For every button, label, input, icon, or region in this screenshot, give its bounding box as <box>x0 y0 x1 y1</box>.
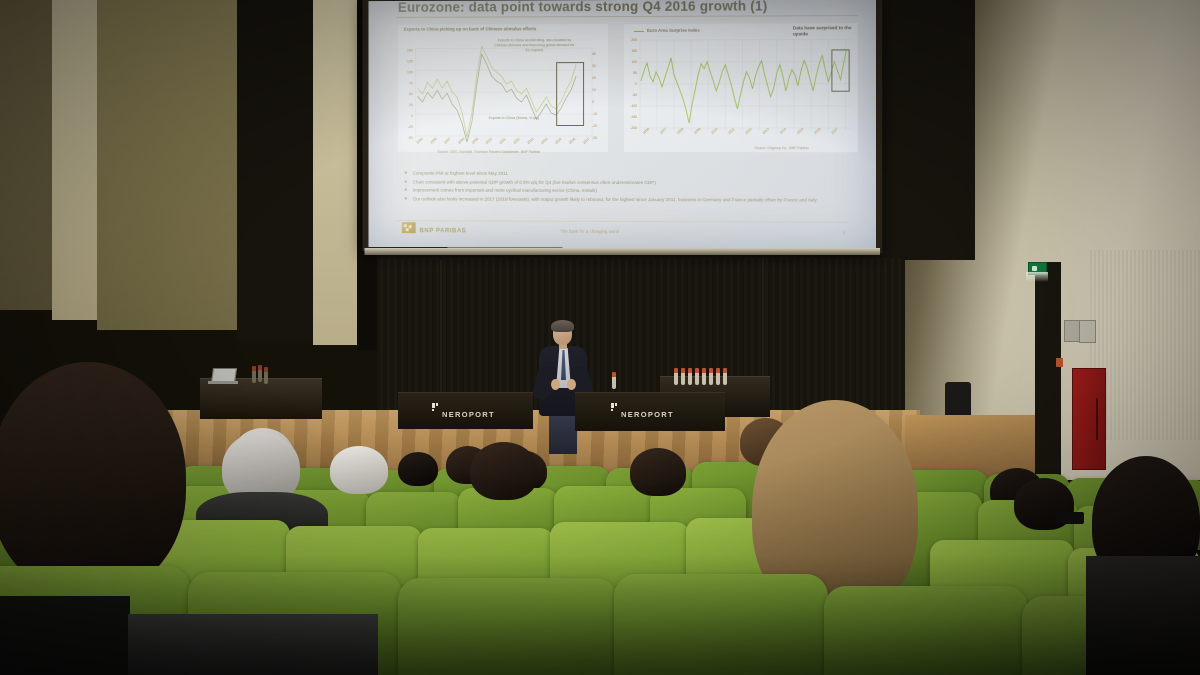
audience-head <box>630 448 686 496</box>
eyeglasses-icon <box>1056 512 1084 524</box>
bnp-paribas-logo-icon <box>402 222 416 233</box>
laptop-base <box>208 381 238 384</box>
slide-bullet-list: Composite PMI at highest level since May… <box>402 170 852 205</box>
foreground-person-lap <box>128 614 378 675</box>
foreground-person-body-right <box>1086 556 1200 675</box>
exit-sign-glow <box>1026 272 1048 282</box>
bottle <box>681 368 685 385</box>
bottle <box>688 368 692 385</box>
auditorium-photo: Eurozone: data point towards strong Q4 2… <box>0 0 1200 675</box>
bottle <box>723 368 727 385</box>
wall-sign-left <box>1064 320 1080 342</box>
bottle <box>252 366 256 383</box>
seat-foreground <box>614 574 828 675</box>
fire-hose-clip <box>1056 358 1063 367</box>
side-table-left <box>200 378 322 419</box>
slide-bullet: Composite PMI at highest level since May… <box>402 170 852 178</box>
fire-cabinet-handle[interactable] <box>1096 398 1098 440</box>
neroport-logo-icon <box>432 403 441 411</box>
wall-sign-right <box>1079 320 1096 343</box>
projection-screen-bottom-bar <box>364 248 880 255</box>
left-chart-highlight-box <box>556 62 584 126</box>
neroport-logo-icon <box>611 403 620 411</box>
bottle <box>264 367 268 384</box>
wall-panel-3 <box>97 0 237 330</box>
bottle <box>695 368 699 385</box>
speaker-left-hand <box>551 379 560 390</box>
stage-front-panel-right: NEROPORT <box>575 392 725 431</box>
bottle <box>258 365 262 382</box>
slide-bullet: Chart consistent with above-potential GD… <box>402 178 852 186</box>
wall-panel-1 <box>0 0 52 310</box>
audience-head <box>398 452 438 486</box>
projection-screen: Eurozone: data point towards strong Q4 2… <box>368 0 876 249</box>
wall-panel-5 <box>313 0 357 345</box>
brand-name: BNP PARIBAS <box>420 228 467 234</box>
bottle <box>674 368 678 385</box>
seat-foreground <box>824 586 1028 675</box>
stage-front-panel-left: NEROPORT <box>398 392 533 429</box>
slide-page-number: 6 <box>843 230 845 235</box>
door-frame-strip <box>1035 262 1061 480</box>
speaker-legs <box>549 414 577 454</box>
neroport-wordmark-left: NEROPORT <box>442 410 495 419</box>
left-chart-panel: Exports to China picking up on back of C… <box>398 24 608 152</box>
bottle <box>709 368 713 385</box>
acoustic-panel <box>1090 250 1200 440</box>
left-chart-series-note: Exports to China (3mma, % y/y) <box>489 116 549 121</box>
left-chart-source: Source: CEIC, Eurostat, Thomson Reuters … <box>437 150 540 154</box>
right-chart-highlight-box <box>831 49 849 91</box>
seat-foreground <box>398 578 618 675</box>
footer-divider <box>396 220 848 223</box>
audience-head <box>330 446 388 494</box>
slide-content: Eurozone: data point towards strong Q4 2… <box>376 1 868 247</box>
slide-bullet: Our outlook also looks increased in 2017… <box>402 195 852 203</box>
neroport-wordmark-right: NEROPORT <box>621 410 674 419</box>
right-chart-source: Source: Citigroup Inc., BNP Paribas <box>755 146 809 150</box>
wall-panel-2 <box>52 0 97 320</box>
speaker-hair <box>551 320 574 332</box>
audience-head-foreground-left <box>0 362 186 594</box>
right-wall-dark-recess <box>905 0 975 260</box>
audience-head <box>470 442 538 500</box>
fire-hose-cabinet[interactable] <box>1072 368 1106 470</box>
bottle <box>612 372 616 389</box>
slide-title: Eurozone: data point towards strong Q4 2… <box>398 0 768 15</box>
right-chart-panel: Euro Area Surprise Index Data have surpr… <box>624 23 858 152</box>
speaker-right-hand <box>567 379 576 390</box>
bottle <box>716 368 720 385</box>
bottle <box>702 368 706 385</box>
wall-panel-4 <box>237 0 313 340</box>
title-divider <box>396 15 858 18</box>
brand-tagline: The bank for a changing world <box>560 229 619 234</box>
foreground-person-body <box>0 596 130 675</box>
slide-bullet: Improvement comes from important and mor… <box>402 187 852 195</box>
